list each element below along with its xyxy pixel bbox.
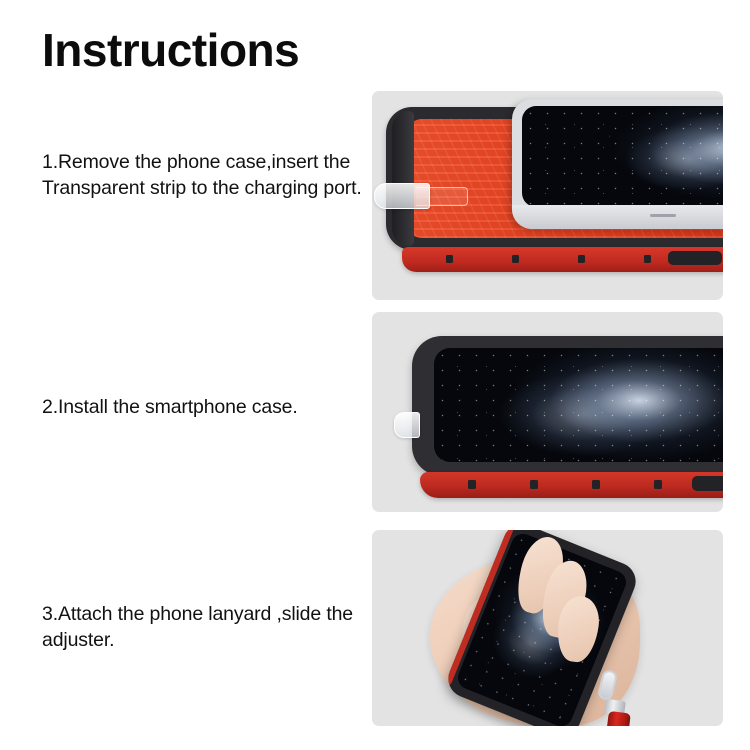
case-port-hole [512,255,519,263]
assembled-phone-case [412,336,723,476]
phone-screen-wallpaper [522,106,723,207]
case-port-hole [644,255,651,263]
case-port-hole [530,480,538,489]
case-port-hole [578,255,585,263]
phone-bottom-edge [512,205,723,229]
step-3-text: 3.Attach the phone lanyard ,slide the ad… [42,602,364,653]
wallpaper-particles [434,348,723,462]
phone-speaker-icon [650,214,676,217]
case-port-hole [592,480,600,489]
transparent-strip [374,183,430,209]
phone-screen-wallpaper [434,348,723,462]
step-1-text: 1.Remove the phone case,insert the Trans… [42,150,364,201]
panel-step-1 [372,91,723,300]
wallpaper-particles [522,106,723,207]
case-left-rim [392,111,414,246]
instructions-page: Instructions 1.Remove the phone case,ins… [0,0,750,750]
panel-step-3 [372,530,723,726]
case-port-hole [446,255,453,263]
step-2-text: 2.Install the smartphone case. [42,395,364,421]
case-port-hole [468,480,476,489]
case-port-hole [654,480,662,489]
page-title: Instructions [42,26,299,75]
case-charging-port [668,251,722,265]
panel-step-2 [372,312,723,512]
case-bottom-rail [420,472,723,498]
phone-device [512,99,723,229]
transparent-strip [394,412,420,438]
case-bottom-rail [402,247,723,272]
case-charging-port [692,476,723,491]
